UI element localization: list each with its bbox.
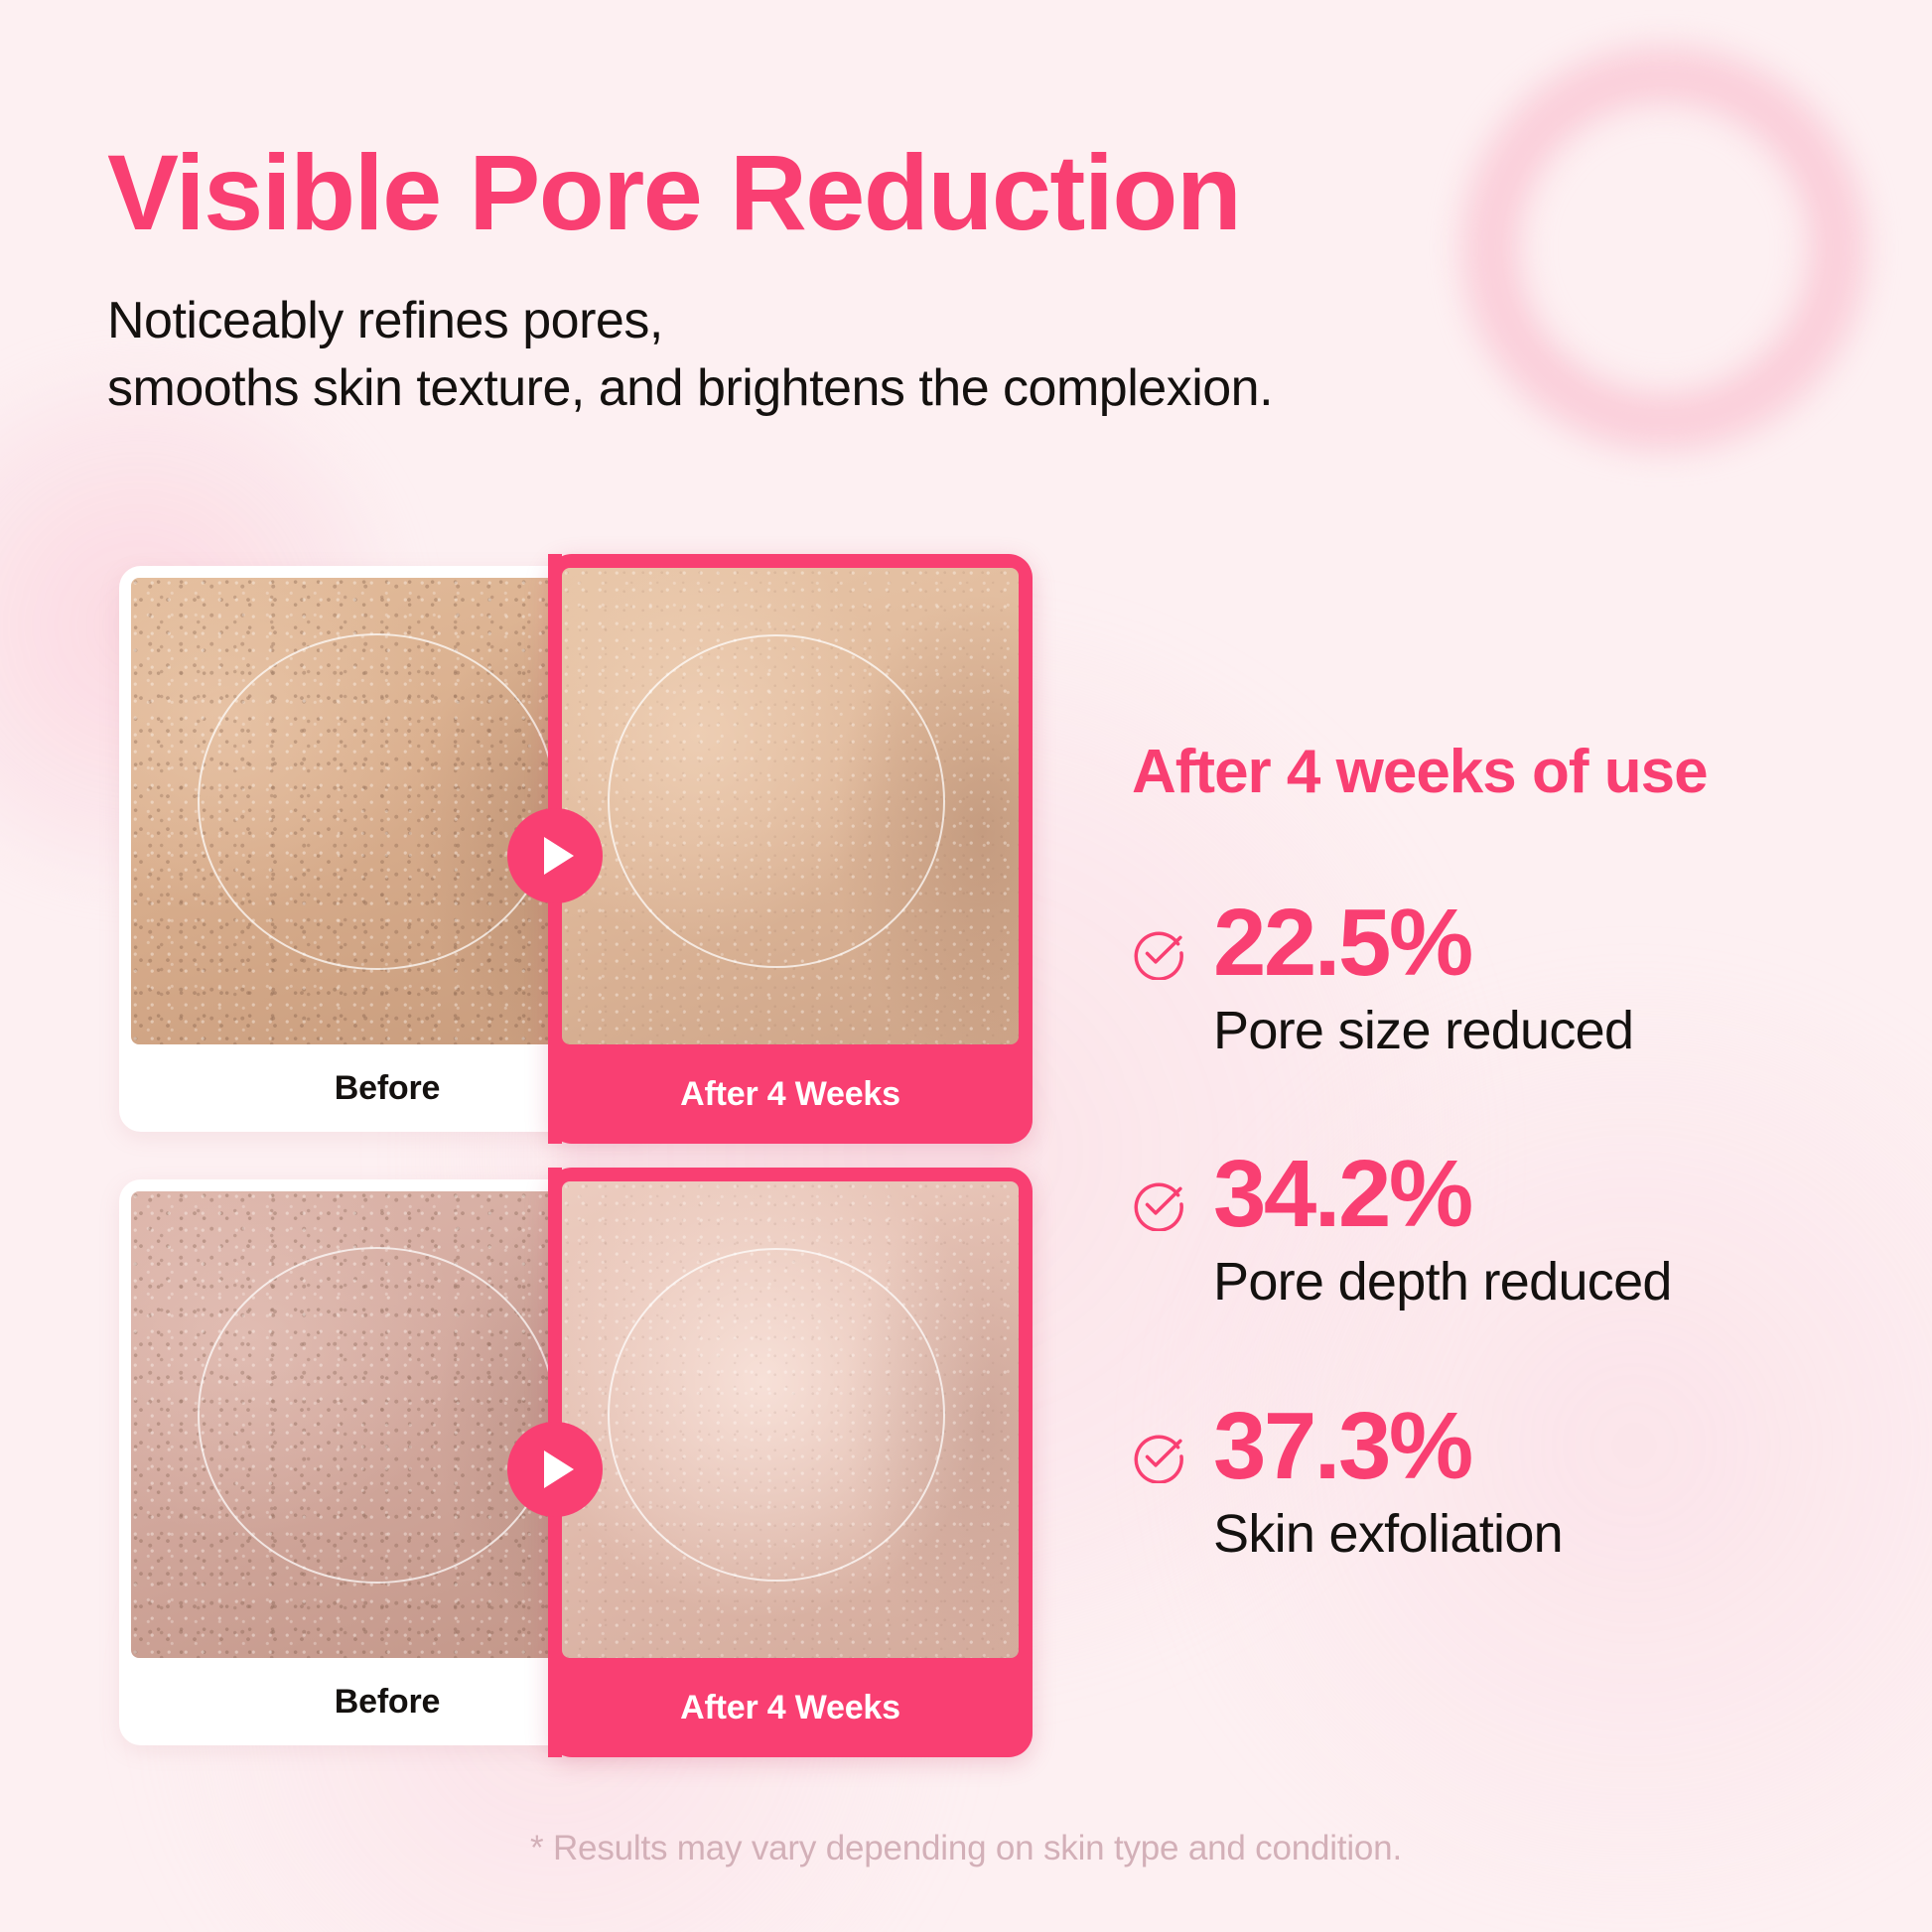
subtitle-line-1: Noticeably refines pores, [107, 288, 1696, 355]
analysis-circle-overlay [608, 1248, 945, 1582]
result-stat-label: Pore depth reduced [1213, 1253, 1866, 1311]
result-stat-row: 37.3% Skin exfoliation [1132, 1398, 1866, 1564]
infographic-page: Visible Pore Reduction Noticeably refine… [0, 0, 1932, 1932]
after-card: After 4 Weeks [548, 554, 1033, 1144]
comparison-row: Before After 4 Weeks [119, 566, 1033, 1132]
analysis-circle-overlay [608, 634, 945, 968]
comparison-row: Before After 4 Weeks [119, 1179, 1033, 1745]
result-stat-value: 34.2% [1213, 1146, 1866, 1243]
after-card: After 4 Weeks [548, 1168, 1033, 1757]
analysis-circle-overlay [198, 633, 556, 969]
results-heading: After 4 weeks of use [1132, 737, 1866, 807]
after-caption: After 4 Weeks [548, 1658, 1033, 1757]
comparison-stack: Before After 4 Weeks [119, 566, 1033, 1793]
after-caption: After 4 Weeks [548, 1044, 1033, 1144]
page-title: Visible Pore Reduction [107, 139, 1696, 246]
circle-check-icon [1132, 1177, 1185, 1231]
circle-check-icon [1132, 926, 1185, 980]
play-icon[interactable] [507, 808, 603, 903]
after-photo [562, 1181, 1019, 1658]
disclaimer-text: * Results may vary depending on skin typ… [0, 1829, 1932, 1868]
analysis-circle-overlay [198, 1247, 556, 1583]
after-photo [562, 568, 1019, 1044]
play-triangle-glyph [544, 1450, 574, 1488]
result-stat-row: 22.5% Pore size reduced [1132, 895, 1866, 1060]
result-stat-label: Pore size reduced [1213, 1002, 1866, 1060]
result-stat-body: 22.5% Pore size reduced [1213, 895, 1866, 1060]
result-stat-value: 37.3% [1213, 1398, 1866, 1495]
play-triangle-glyph [544, 837, 574, 875]
result-stat-label: Skin exfoliation [1213, 1505, 1866, 1564]
circle-check-icon [1132, 1430, 1185, 1483]
header-block: Visible Pore Reduction Noticeably refine… [107, 139, 1696, 422]
results-panel: After 4 weeks of use 22.5% Pore size red… [1132, 737, 1866, 1564]
result-stat-body: 34.2% Pore depth reduced [1213, 1146, 1866, 1311]
result-stat-row: 34.2% Pore depth reduced [1132, 1146, 1866, 1311]
result-stat-value: 22.5% [1213, 895, 1866, 992]
result-stat-body: 37.3% Skin exfoliation [1213, 1398, 1866, 1564]
subtitle-line-2: smooths skin texture, and brightens the … [107, 355, 1696, 423]
play-icon[interactable] [507, 1422, 603, 1517]
page-subtitle: Noticeably refines pores, smooths skin t… [107, 288, 1696, 422]
